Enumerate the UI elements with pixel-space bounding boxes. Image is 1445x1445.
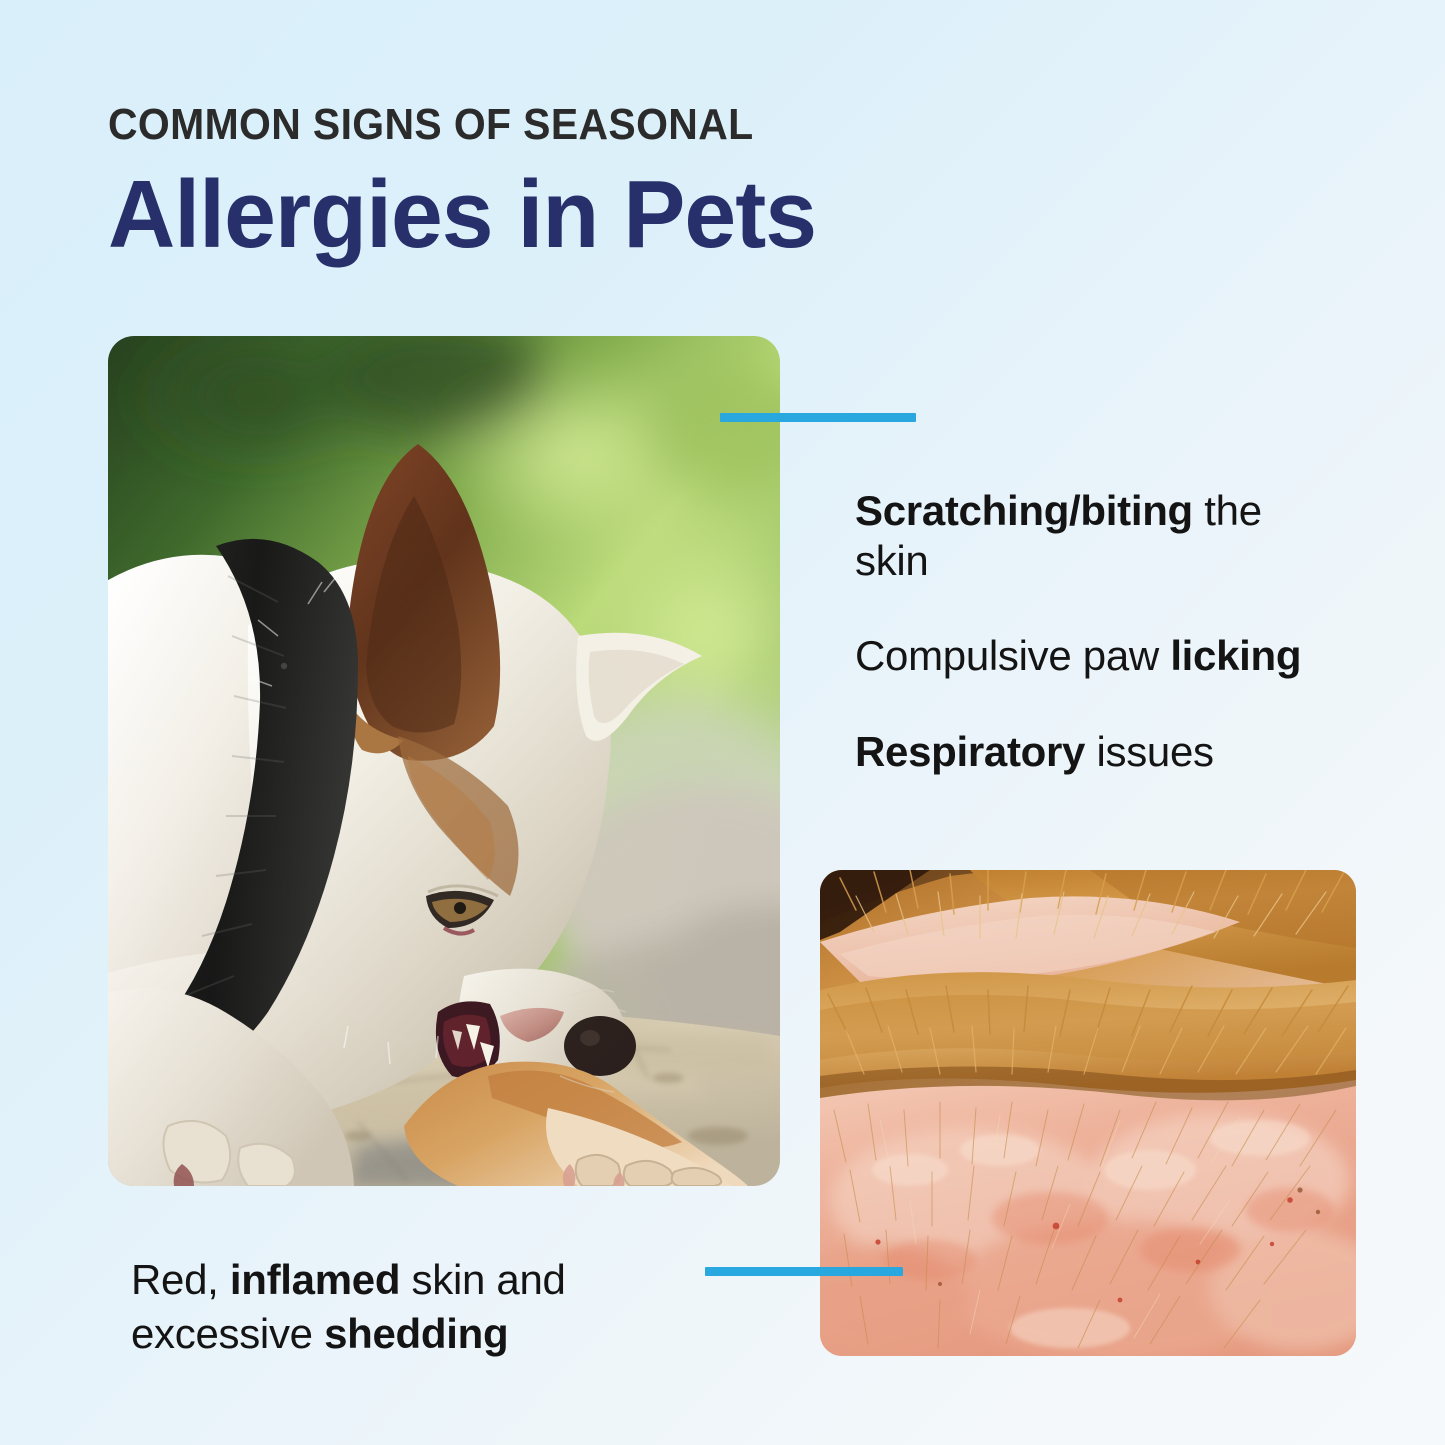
caption-bold-inflamed: inflamed bbox=[230, 1256, 400, 1303]
dog-photo-illustration bbox=[108, 336, 780, 1186]
symptom-item-scratching: Scratching/biting the skin bbox=[855, 486, 1325, 585]
infographic-canvas: COMMON SIGNS OF SEASONAL Allergies in Pe… bbox=[0, 0, 1445, 1445]
symptom-rest-respiratory: issues bbox=[1085, 728, 1214, 775]
inflamed-skin-photo bbox=[820, 870, 1356, 1356]
symptom-list: Scratching/biting the skin Compulsive pa… bbox=[855, 486, 1325, 776]
eyebrow-text: COMMON SIGNS OF SEASONAL bbox=[108, 100, 753, 150]
dog-photo bbox=[108, 336, 780, 1186]
caption-bold-shedding: shedding bbox=[324, 1310, 508, 1357]
page-title: Allergies in Pets bbox=[108, 162, 816, 268]
symptom-lead-scratching: Scratching/biting bbox=[855, 487, 1193, 534]
symptom-tail-licking: licking bbox=[1170, 632, 1301, 679]
bottom-caption: Red, inflamed skin and excessive sheddin… bbox=[131, 1253, 731, 1361]
symptom-lead-licking: Compulsive paw bbox=[855, 632, 1170, 679]
symptom-item-respiratory: Respiratory issues bbox=[855, 727, 1325, 777]
symptom-item-licking: Compulsive paw licking bbox=[855, 631, 1325, 681]
connector-line-top bbox=[720, 413, 916, 422]
symptom-lead-respiratory: Respiratory bbox=[855, 728, 1085, 775]
skin-photo-illustration bbox=[820, 870, 1356, 1356]
caption-part1: Red, bbox=[131, 1256, 230, 1303]
connector-line-bottom bbox=[705, 1267, 903, 1276]
